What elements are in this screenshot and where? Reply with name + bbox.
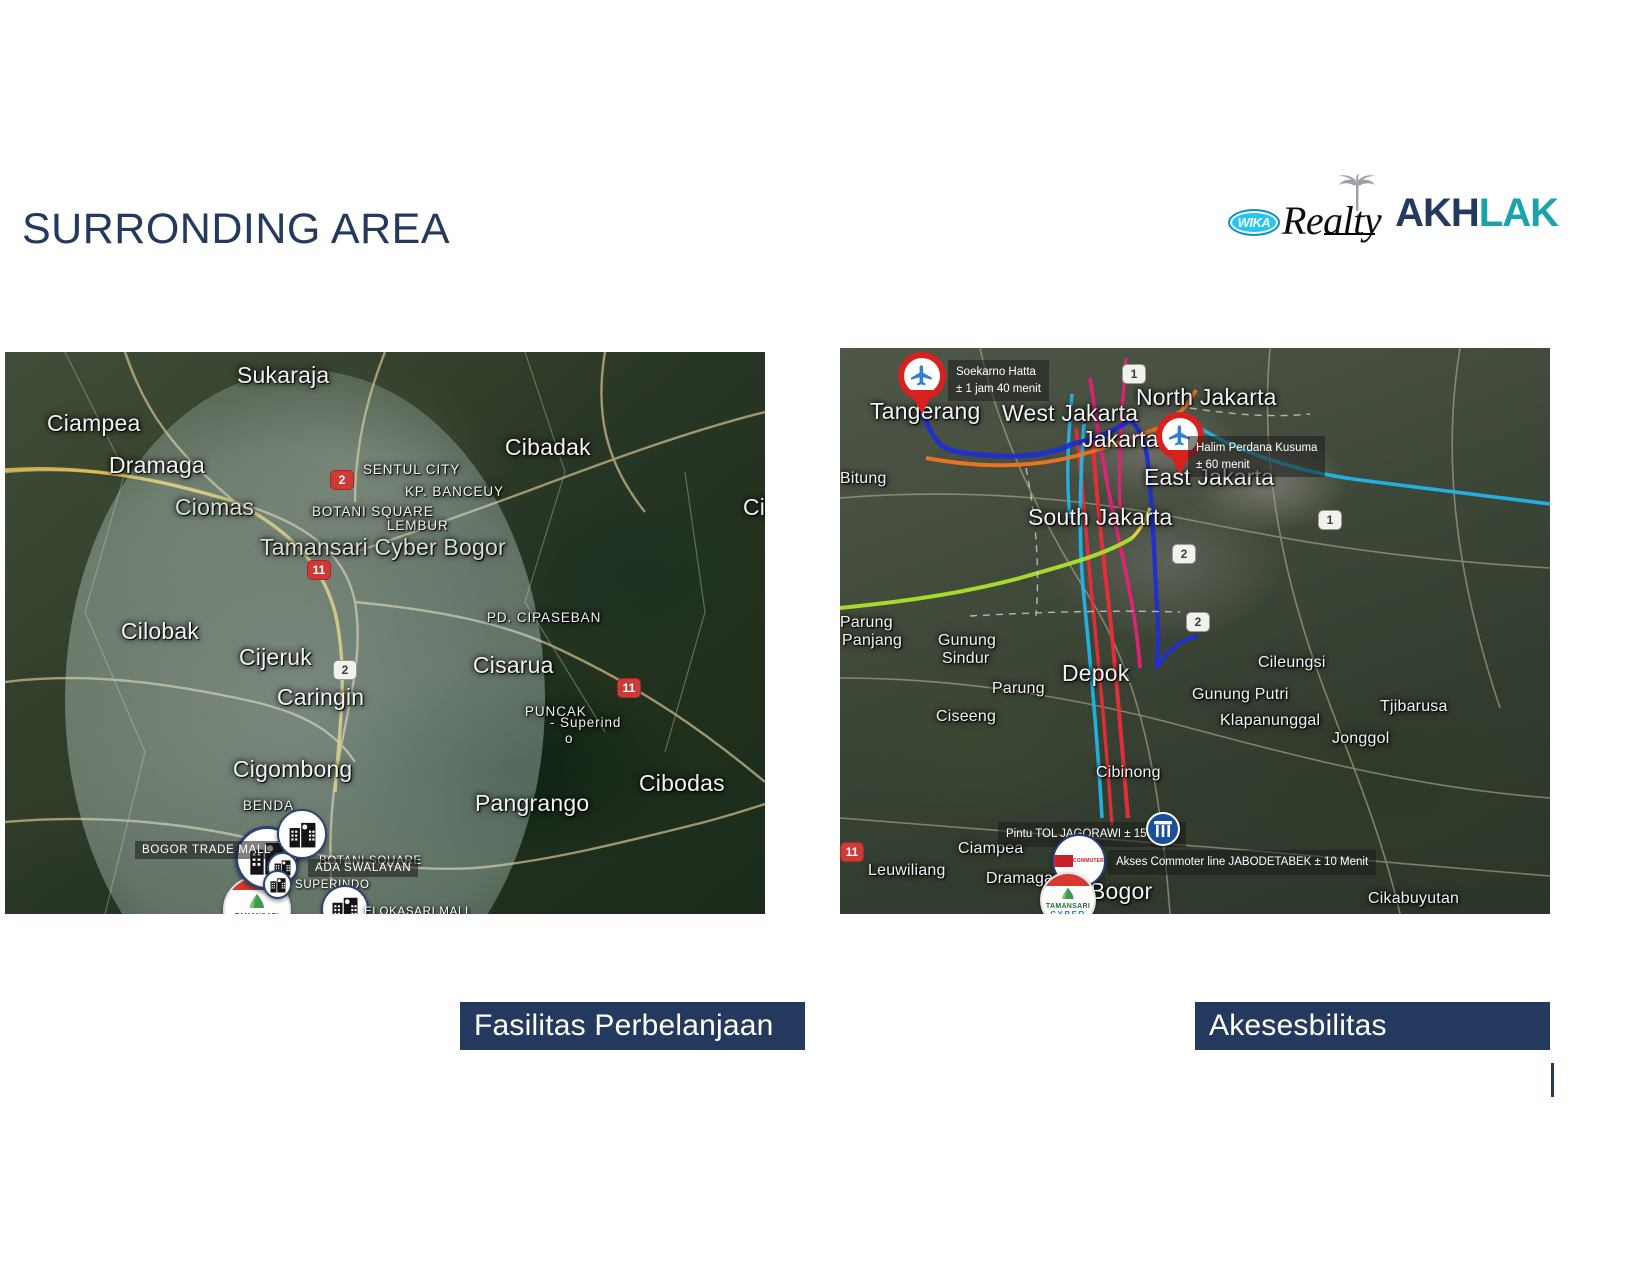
logo-bar: WIKA Realty AKHLAK [1228, 186, 1558, 240]
badge-right-line2: CYBER [1050, 910, 1086, 914]
corner-rule [1551, 1063, 1554, 1097]
map-place-label: Bogor [1090, 878, 1152, 905]
airplane-icon [909, 363, 935, 389]
callout-line2: ± 60 menit [1196, 457, 1317, 474]
map-place-label: Cileungsi [1258, 654, 1326, 672]
callout-line1: Halim Perdana Kusuma [1196, 440, 1317, 457]
toll-gantry-glyph [1153, 820, 1173, 838]
map-place-label: Pangrango [475, 790, 589, 817]
akhlak-part1: AKH [1395, 191, 1479, 236]
callout-halim-perdana-kusuma-airport: Halim Perdana Kusuma± 60 menit [1188, 436, 1325, 477]
marker-soekarno-hatta-airport[interactable] [898, 352, 946, 414]
route-shield: 2 [330, 470, 354, 490]
map-place-label: Bitung [840, 470, 887, 488]
buildings-icon [330, 894, 360, 914]
route-shield: 11 [307, 560, 331, 580]
akhlak-logo: AKHLAK [1395, 191, 1558, 236]
map-place-label: Sukaraja [237, 362, 329, 389]
map-place-label: Cibinong [1096, 764, 1161, 782]
map-place-label: Dramaga [109, 452, 205, 479]
map-place-label: North Jakarta [1136, 384, 1277, 411]
route-shield: 1 [1318, 510, 1342, 530]
route-shield: 11 [617, 678, 641, 698]
pin-tail [909, 390, 935, 414]
wika-realty-logo: WIKA Realty [1228, 186, 1381, 240]
map-place-label: Jakarta [1082, 426, 1159, 453]
map-place-label: Cibodas [639, 770, 725, 797]
callout-soekarno-hatta-airport: Soekarno Hatta± 1 jam 40 menit [948, 360, 1049, 401]
map-place-label: BOTANI SQUARE [312, 504, 434, 519]
caption-fasilitas-perbelanjaan: Fasilitas Perbelanjaan [460, 1002, 805, 1050]
map-place-label: Jonggol [1332, 730, 1389, 748]
map-place-label: Klapanunggal [1220, 712, 1320, 730]
map-place-label: Panjang [842, 632, 902, 650]
poi-label-ada-swalayan: ADA SWALAYAN [308, 859, 418, 877]
callout-line2: ± 1 jam 40 menit [956, 381, 1041, 398]
palm-tree-icon [1335, 174, 1379, 214]
map-place-label: Cilobak [121, 618, 199, 645]
pin-inner [904, 358, 940, 394]
akhlak-part2: LAK [1479, 191, 1558, 236]
badge-line1: TAMANSARI [235, 913, 279, 914]
map-place-label: PD. CIPASEBAN [487, 610, 601, 625]
map-place-label: South Jakarta [1028, 504, 1173, 531]
map-place-label: Parung [992, 680, 1045, 698]
map-place-label: Ciomas [175, 494, 254, 521]
caption-akesesbilitas: Akesesbilitas [1195, 1002, 1550, 1050]
slide-surronding-area: SURRONDING AREA WIKA Realty [0, 0, 1650, 1275]
wika-mark-label: WIKA [1238, 215, 1271, 230]
tamansari-badge-icon[interactable]: TAMANSARI CYBER [1040, 872, 1096, 914]
page-title: SURRONDING AREA [22, 205, 450, 254]
map-place-label: Parung [840, 614, 893, 632]
toll-gate-icon[interactable] [1146, 812, 1180, 846]
route-shield: 11 [840, 842, 864, 862]
route-shield: 2 [1186, 612, 1210, 632]
route-shield: 1 [1122, 364, 1146, 384]
route-shield: 2 [333, 660, 357, 680]
poi-label-bogor-trade-mall: BOGOR TRADE MALL [135, 841, 278, 859]
commuter-red-bar [1054, 855, 1073, 867]
map-place-label: Cikabuyutan [1368, 890, 1459, 908]
badge-right-line1: TAMANSARI [1046, 903, 1090, 910]
map-place-label: Caringin [277, 684, 364, 711]
badge-arc-right [1042, 874, 1094, 886]
map-place-label: Cisarua [473, 652, 554, 679]
map-place-label: Ciseeng [936, 708, 996, 726]
route-shield: 2 [1172, 544, 1196, 564]
map-place-label: BENDA [243, 798, 294, 813]
map-place-label: Tjibarusa [1380, 698, 1448, 716]
map-place-label: Gunung Putri [1192, 686, 1289, 704]
map-place-label: KP. BANCEUY [405, 484, 504, 499]
map-place-label: Depok [1062, 660, 1129, 687]
wika-mark-icon: WIKA [1228, 209, 1280, 236]
map-fasilitas-perbelanjaan[interactable]: SukarajaCiampeaCibadakDramagaSENTUL CITY… [5, 352, 765, 914]
commuter-line-label: Akses Commoter line JABODETABEK ± 10 Men… [1108, 850, 1376, 875]
buildings-icon [287, 819, 318, 850]
map-place-label: o [565, 731, 573, 746]
map-place-label: Leuwiliang [868, 862, 946, 880]
map-place-label: Ciampea [47, 410, 140, 437]
map-place-label: West Jakarta [1002, 400, 1138, 427]
map-place-label: SENTUL CITY [363, 462, 460, 477]
poi-label-elokasari-mall: ELOKASARI MALL [357, 903, 479, 914]
leaf-icon [246, 893, 268, 913]
map-place-label: Cika [743, 494, 765, 521]
realty-underline [1324, 233, 1376, 235]
buildings-icon [269, 876, 287, 894]
map-place-label: - Superind [550, 715, 621, 730]
map-place-label: Cigombong [233, 756, 352, 783]
map-place-label: Cijeruk [239, 644, 312, 671]
commuter-badge-text: COMMUTER [1073, 858, 1104, 864]
map-place-label: Sindur [942, 650, 989, 668]
leaf-icon-right [1059, 887, 1077, 903]
map-place-label: Cibadak [505, 434, 591, 461]
map-place-label: Tamansari Cyber Bogor [260, 534, 506, 561]
map-akesesbilitas[interactable]: TangerangWest JakartaNorth JakartaJakart… [840, 348, 1550, 914]
map-place-label: Gunung [938, 632, 996, 650]
callout-line1: Soekarno Hatta [956, 364, 1041, 381]
map-place-label: LEMBUR [387, 518, 449, 533]
